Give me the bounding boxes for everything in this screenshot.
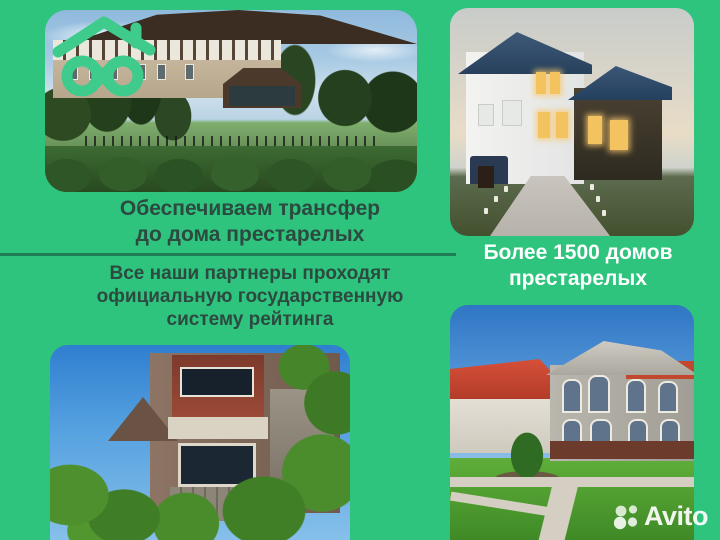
hedge-row <box>45 146 417 192</box>
arched-window <box>658 381 678 413</box>
villa-window <box>502 100 522 126</box>
headline-partners-line2: официальную государственную <box>58 285 442 308</box>
lit-window <box>610 120 628 150</box>
arched-window <box>626 379 646 413</box>
house-infinity-logo <box>50 16 166 98</box>
lit-window <box>588 116 602 144</box>
lit-window <box>550 72 560 94</box>
headline-partners-line1: Все наши партнеры проходят <box>58 262 442 285</box>
conifer-tree <box>504 417 550 481</box>
plinth <box>550 441 694 459</box>
photo-whitehouse <box>450 8 694 236</box>
manor-window <box>185 64 194 80</box>
path-lamp <box>494 196 498 202</box>
section-divider <box>0 253 456 256</box>
arched-window <box>562 379 582 413</box>
lit-window <box>538 112 550 138</box>
headline-transfer-line2: до дома престарелых <box>58 222 442 248</box>
headline-partners-line3: систему рейтинга <box>58 308 442 331</box>
path-lamp <box>504 186 508 192</box>
headline-transfer: Обеспечиваем трансфер до дома престарелы… <box>58 196 442 247</box>
lit-window <box>536 72 546 94</box>
lit-window <box>556 112 568 138</box>
headline-count-line2: престарелых <box>448 266 708 292</box>
photo-brick <box>50 345 350 540</box>
headline-count: Более 1500 домов престарелых <box>448 240 708 291</box>
poster-canvas: Обеспечиваем трансфер до дома престарелы… <box>0 0 720 540</box>
path-lamp <box>484 208 488 214</box>
headline-count-line1: Более 1500 домов <box>448 240 708 266</box>
entry-door <box>478 166 494 188</box>
headline-partners: Все наши партнеры проходят официальную г… <box>58 262 442 332</box>
arched-window <box>588 375 610 413</box>
foliage <box>50 345 350 540</box>
avito-dots-icon <box>614 504 640 530</box>
avito-watermark: Avito <box>614 503 708 530</box>
path-lamp <box>596 196 600 202</box>
path-lamp <box>590 184 594 190</box>
path-lamp <box>602 210 606 216</box>
villa-window <box>478 104 494 126</box>
avito-wordmark: Avito <box>644 503 708 530</box>
headline-transfer-line1: Обеспечиваем трансфер <box>58 196 442 222</box>
